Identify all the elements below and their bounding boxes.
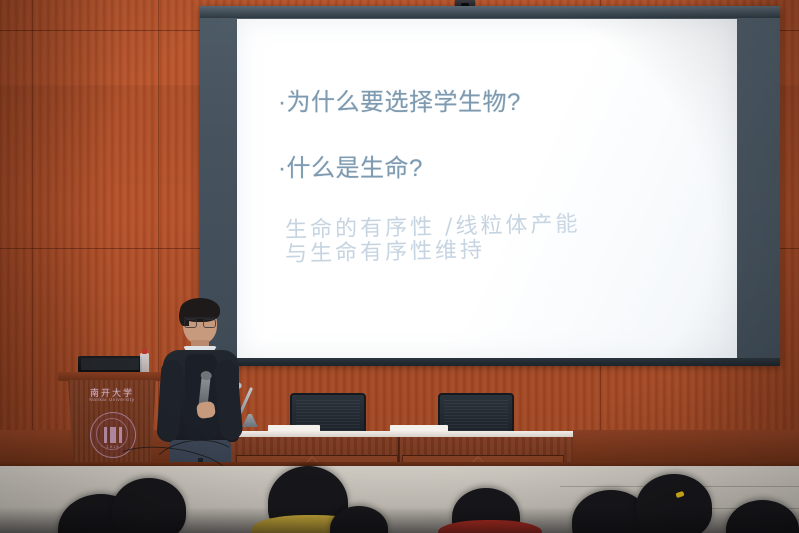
audience-head [112, 478, 186, 533]
glasses-icon [184, 317, 216, 326]
seal-glyph [104, 427, 122, 443]
slide-bullet-2-text: 什么是生命? [287, 155, 423, 182]
chair-mesh [444, 399, 508, 431]
bullet-marker: · [278, 89, 287, 116]
slide-bullet-1-text: 为什么要选择学生物? [287, 89, 521, 116]
audience-head [636, 474, 712, 533]
handwritten-line-2: 与生命有序性维持 [285, 232, 486, 268]
screen-bottom-edge [200, 358, 780, 366]
slide-content: ·为什么要选择学生物? ·什么是生命? 生命的有序性 /线粒体产能 与生命有序性… [237, 19, 737, 358]
lectern-brand-en: Nankai University [76, 397, 148, 402]
lectern-top [58, 372, 166, 381]
slide-bullet-2: ·什么是生命? [278, 148, 423, 183]
screen-top-edge [200, 6, 780, 18]
bullet-marker: · [278, 155, 287, 182]
slide-bullet-1: ·为什么要选择学生物? [278, 82, 521, 117]
laptop [78, 356, 142, 373]
lecture-hall-photo: ·为什么要选择学生物? ·什么是生命? 生命的有序性 /线粒体产能 与生命有序性… [0, 0, 799, 533]
